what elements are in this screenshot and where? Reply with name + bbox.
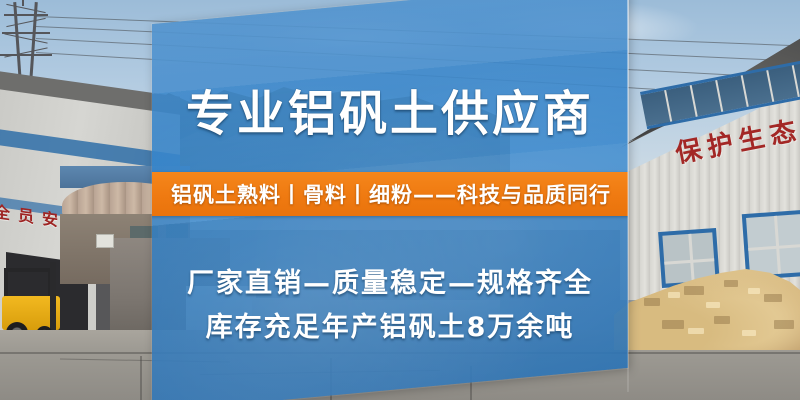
tagline-text: 铝矾土熟料丨骨料丨细粉——科技与品质同行 (152, 172, 628, 216)
banner-stage: 全员安全生产 (0, 0, 800, 400)
panel-edge-highlight (627, 0, 629, 392)
window (742, 210, 800, 280)
transmission-tower-icon (0, 2, 70, 82)
promo-panel-content: 专业铝矾土供应商 铝矾土熟料丨骨料丨细粉——科技与品质同行 厂家直销—质量稳定—… (152, 2, 628, 390)
ground-crack (140, 356, 142, 400)
forklift-mast (50, 262, 56, 334)
subline-one: 厂家直销—质量稳定—规格齐全 (152, 261, 628, 300)
tagline-bar: 铝矾土熟料丨骨料丨细粉——科技与品质同行 (152, 172, 628, 216)
page-title: 专业铝矾土供应商 (152, 90, 628, 138)
subline-two: 库存充足年产铝矾土8万余吨 (152, 305, 628, 344)
promo-panel: 专业铝矾土供应商 铝矾土熟料丨骨料丨细粉——科技与品质同行 厂家直销—质量稳定—… (152, 0, 628, 400)
air-conditioner-unit (96, 234, 114, 248)
